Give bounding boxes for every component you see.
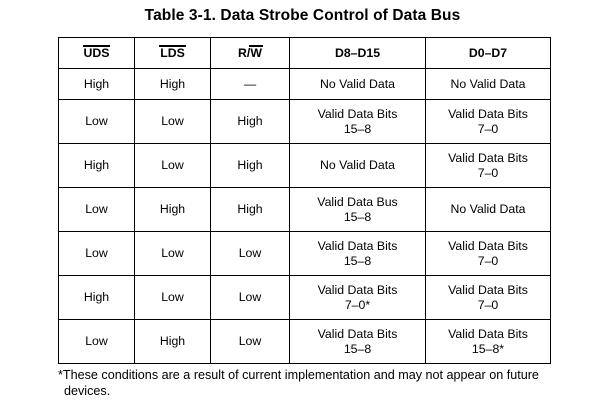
cell-read-write: High (211, 188, 290, 232)
cell-d0-d7-line1: Valid Data Bits (426, 107, 550, 122)
cell-lds: Low (135, 232, 211, 276)
cell-d0-d7-line2: 7–0 (478, 166, 499, 180)
table-row: Low High Low Valid Data Bits 15–8 Valid … (59, 320, 551, 364)
cell-d0-d7: Valid Data Bits 7–0 (426, 144, 551, 188)
cell-d8-d15-line1: Valid Data Bits (290, 107, 425, 122)
cell-d8-d15-line1: Valid Data Bus (290, 195, 425, 210)
cell-d0-d7-line2: 7–0 (478, 298, 499, 312)
cell-d0-d7-line2: 7–0 (478, 122, 499, 136)
cell-d8-d15-line1: No Valid Data (290, 77, 425, 92)
cell-read-write: — (211, 69, 290, 100)
cell-read-write: High (211, 100, 290, 144)
cell-d8-d15-line2: 15–8 (344, 254, 371, 268)
cell-uds: Low (59, 100, 135, 144)
cell-d8-d15: Valid Data Bus 15–8 (290, 188, 426, 232)
cell-lds: High (135, 69, 211, 100)
cell-d8-d15: Valid Data Bits 15–8 (290, 320, 426, 364)
data-strobe-control-table: UDS LDS R/W D8–D15 D0–D7 High High — No … (58, 37, 551, 364)
cell-read-write: Low (211, 232, 290, 276)
cell-uds: High (59, 69, 135, 100)
document-page: Table 3-1. Data Strobe Control of Data B… (0, 0, 605, 404)
table-row: Low Low Low Valid Data Bits 15–8 Valid D… (59, 232, 551, 276)
cell-d0-d7-line1: No Valid Data (426, 202, 550, 217)
cell-d0-d7-line2: 7–0 (478, 254, 499, 268)
table-row: Low Low High Valid Data Bits 15–8 Valid … (59, 100, 551, 144)
cell-read-write: Low (211, 320, 290, 364)
cell-d0-d7: No Valid Data (426, 69, 551, 100)
cell-lds: Low (135, 144, 211, 188)
lds-label: LDS (160, 45, 185, 61)
table-row: Low High High Valid Data Bus 15–8 No Val… (59, 188, 551, 232)
cell-uds: Low (59, 320, 135, 364)
column-header-lds: LDS (135, 38, 211, 69)
cell-read-write: High (211, 144, 290, 188)
cell-d8-d15-line2: 7–0* (345, 298, 370, 312)
cell-d8-d15-line2: 15–8 (344, 210, 371, 224)
table-body: High High — No Valid Data No Valid Data … (59, 69, 551, 364)
cell-d0-d7-line2: 15–8* (472, 342, 504, 356)
table-row: High Low High No Valid Data Valid Data B… (59, 144, 551, 188)
cell-d8-d15-line2: 15–8 (344, 342, 371, 356)
cell-d8-d15: No Valid Data (290, 69, 426, 100)
table-footnote: *These conditions are a result of curren… (58, 367, 564, 399)
column-header-d8-d15: D8–D15 (290, 38, 426, 69)
table-header-row: UDS LDS R/W D8–D15 D0–D7 (59, 38, 551, 69)
table-title: Table 3-1. Data Strobe Control of Data B… (0, 7, 605, 25)
column-header-read-write: R/W (211, 38, 290, 69)
cell-d0-d7: Valid Data Bits 7–0 (426, 276, 551, 320)
table-row: High Low Low Valid Data Bits 7–0* Valid … (59, 276, 551, 320)
table-header: UDS LDS R/W D8–D15 D0–D7 (59, 38, 551, 69)
cell-d0-d7-line1: No Valid Data (426, 77, 550, 92)
cell-d0-d7: Valid Data Bits 15–8* (426, 320, 551, 364)
column-header-uds: UDS (59, 38, 135, 69)
uds-label: UDS (84, 45, 110, 61)
column-header-d0-d7: D0–D7 (426, 38, 551, 69)
cell-d8-d15-line1: Valid Data Bits (290, 283, 425, 298)
cell-d8-d15: Valid Data Bits 15–8 (290, 232, 426, 276)
cell-uds: High (59, 144, 135, 188)
table-row: High High — No Valid Data No Valid Data (59, 69, 551, 100)
cell-d8-d15: Valid Data Bits 7–0* (290, 276, 426, 320)
write-label: W (250, 45, 262, 61)
cell-d0-d7-line1: Valid Data Bits (426, 151, 550, 166)
cell-d8-d15: No Valid Data (290, 144, 426, 188)
cell-read-write: Low (211, 276, 290, 320)
cell-d8-d15: Valid Data Bits 15–8 (290, 100, 426, 144)
cell-lds: Low (135, 276, 211, 320)
cell-uds: Low (59, 232, 135, 276)
cell-uds: High (59, 276, 135, 320)
cell-uds: Low (59, 188, 135, 232)
read-label: R/ (238, 46, 250, 60)
cell-d0-d7-line1: Valid Data Bits (426, 283, 550, 298)
cell-d0-d7: No Valid Data (426, 188, 551, 232)
cell-d0-d7: Valid Data Bits 7–0 (426, 100, 551, 144)
cell-d0-d7-line1: Valid Data Bits (426, 239, 550, 254)
cell-d0-d7: Valid Data Bits 7–0 (426, 232, 551, 276)
cell-d8-d15-line1: Valid Data Bits (290, 327, 425, 342)
cell-lds: High (135, 320, 211, 364)
cell-lds: Low (135, 100, 211, 144)
cell-d8-d15-line1: No Valid Data (290, 158, 425, 173)
cell-lds: High (135, 188, 211, 232)
cell-d0-d7-line1: Valid Data Bits (426, 327, 550, 342)
cell-d8-d15-line1: Valid Data Bits (290, 239, 425, 254)
cell-d8-d15-line2: 15–8 (344, 122, 371, 136)
